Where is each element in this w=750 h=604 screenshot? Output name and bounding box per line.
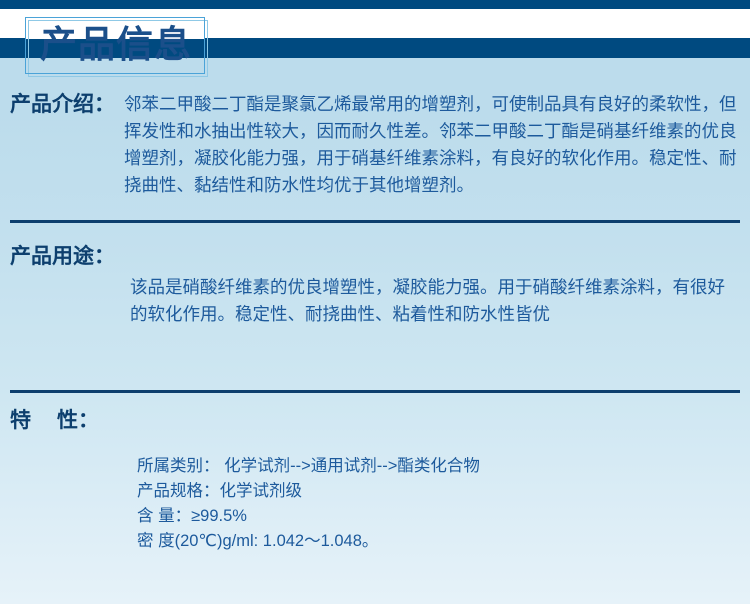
spec-row-grade: 产品规格：化学试剂级 <box>137 479 480 504</box>
spec-name-category: 所属类别： <box>137 457 220 475</box>
section-body-product-intro: 邻苯二甲酸二丁酯是聚氯乙烯最常用的增塑剂，可使制品具有良好的柔软性，但挥发性和水… <box>124 91 740 199</box>
section-label-product-usage: 产品用途： <box>10 240 115 270</box>
section-body-product-usage: 该品是硝酸纤维素的优良增塑性，凝胶能力强。用于硝酸纤维素涂料，有很好的软化作用。… <box>130 274 740 328</box>
spec-name-grade: 产品规格： <box>137 482 220 500</box>
page-title: 产品信息 <box>30 18 202 72</box>
section-label-product-intro: 产品介绍： <box>10 88 115 118</box>
spec-value-density: 1.042～1.048。 <box>258 532 378 550</box>
specification-list: 所属类别： 化学试剂-->通用试剂-->酯类化合物 产品规格：化学试剂级 含 量… <box>137 454 480 554</box>
spec-value-category: 化学试剂-->通用试剂-->酯类化合物 <box>220 457 480 475</box>
top-accent-bar <box>0 0 750 9</box>
section-divider-1 <box>10 220 740 223</box>
section-divider-2 <box>10 390 740 393</box>
spec-value-content: ≥99.5% <box>191 507 247 525</box>
spec-name-density: 密 度(20℃)g/ml: <box>137 532 258 550</box>
section-label-characteristics-part1: 特 <box>10 409 57 432</box>
spec-row-category: 所属类别： 化学试剂-->通用试剂-->酯类化合物 <box>137 454 480 479</box>
product-info-page: 产品信息 产品介绍： 邻苯二甲酸二丁酯是聚氯乙烯最常用的增塑剂，可使制品具有良好… <box>0 0 750 604</box>
spec-name-content: 含 量： <box>137 507 191 525</box>
spec-row-density: 密 度(20℃)g/ml: 1.042～1.048。 <box>137 529 480 554</box>
spec-row-content: 含 量：≥99.5% <box>137 504 480 529</box>
section-label-characteristics: 特性： <box>10 404 99 434</box>
section-label-characteristics-part2: 性： <box>57 409 99 432</box>
spec-value-grade: 化学试剂级 <box>220 482 303 500</box>
